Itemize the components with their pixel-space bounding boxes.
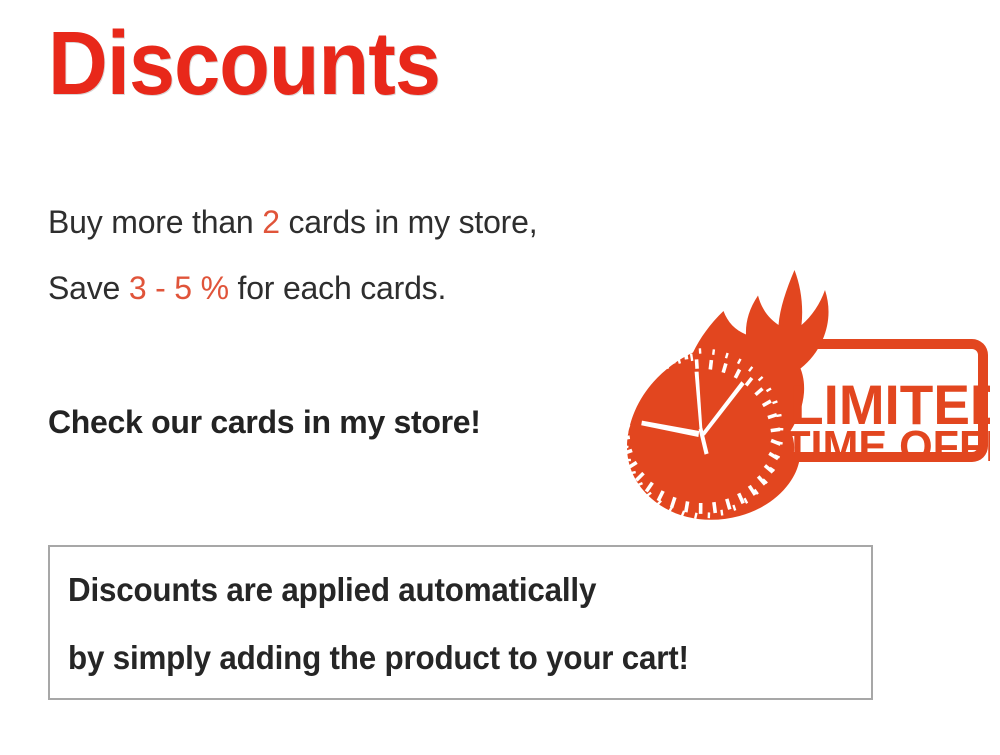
- callout-line-1: Discounts are applied automatically: [68, 572, 596, 608]
- auto-discount-callout-box: Discounts are applied automatically by s…: [48, 545, 873, 700]
- store-cta-text: Check our cards in my store!: [48, 404, 481, 440]
- promo-line-2-after: for each cards.: [229, 270, 446, 306]
- callout-line-2: by simply adding the product to your car…: [68, 640, 689, 676]
- promo-line-2-before: Save: [48, 270, 129, 306]
- flame-clock-icon: LIMITED TIME OFFER: [598, 268, 990, 520]
- promo-line-1-after: cards in my store,: [280, 204, 538, 240]
- promo-line-1-before: Buy more than: [48, 204, 262, 240]
- promo-line-1: Buy more than 2 cards in my store,: [48, 204, 537, 240]
- limited-time-offer-graphic: LIMITED TIME OFFER: [598, 268, 990, 520]
- promo-line-2: Save 3 - 5 % for each cards.: [48, 270, 446, 306]
- badge-text: LIMITED TIME OFFER: [784, 373, 990, 471]
- promo-line-2-accent: 3 - 5 %: [129, 270, 229, 306]
- badge-line-2: TIME OFFER: [784, 423, 990, 471]
- discount-promo-banner: Discounts Buy more than 2 cards in my st…: [0, 0, 1000, 755]
- page-title: Discounts: [48, 18, 440, 110]
- promo-line-1-accent: 2: [262, 204, 280, 240]
